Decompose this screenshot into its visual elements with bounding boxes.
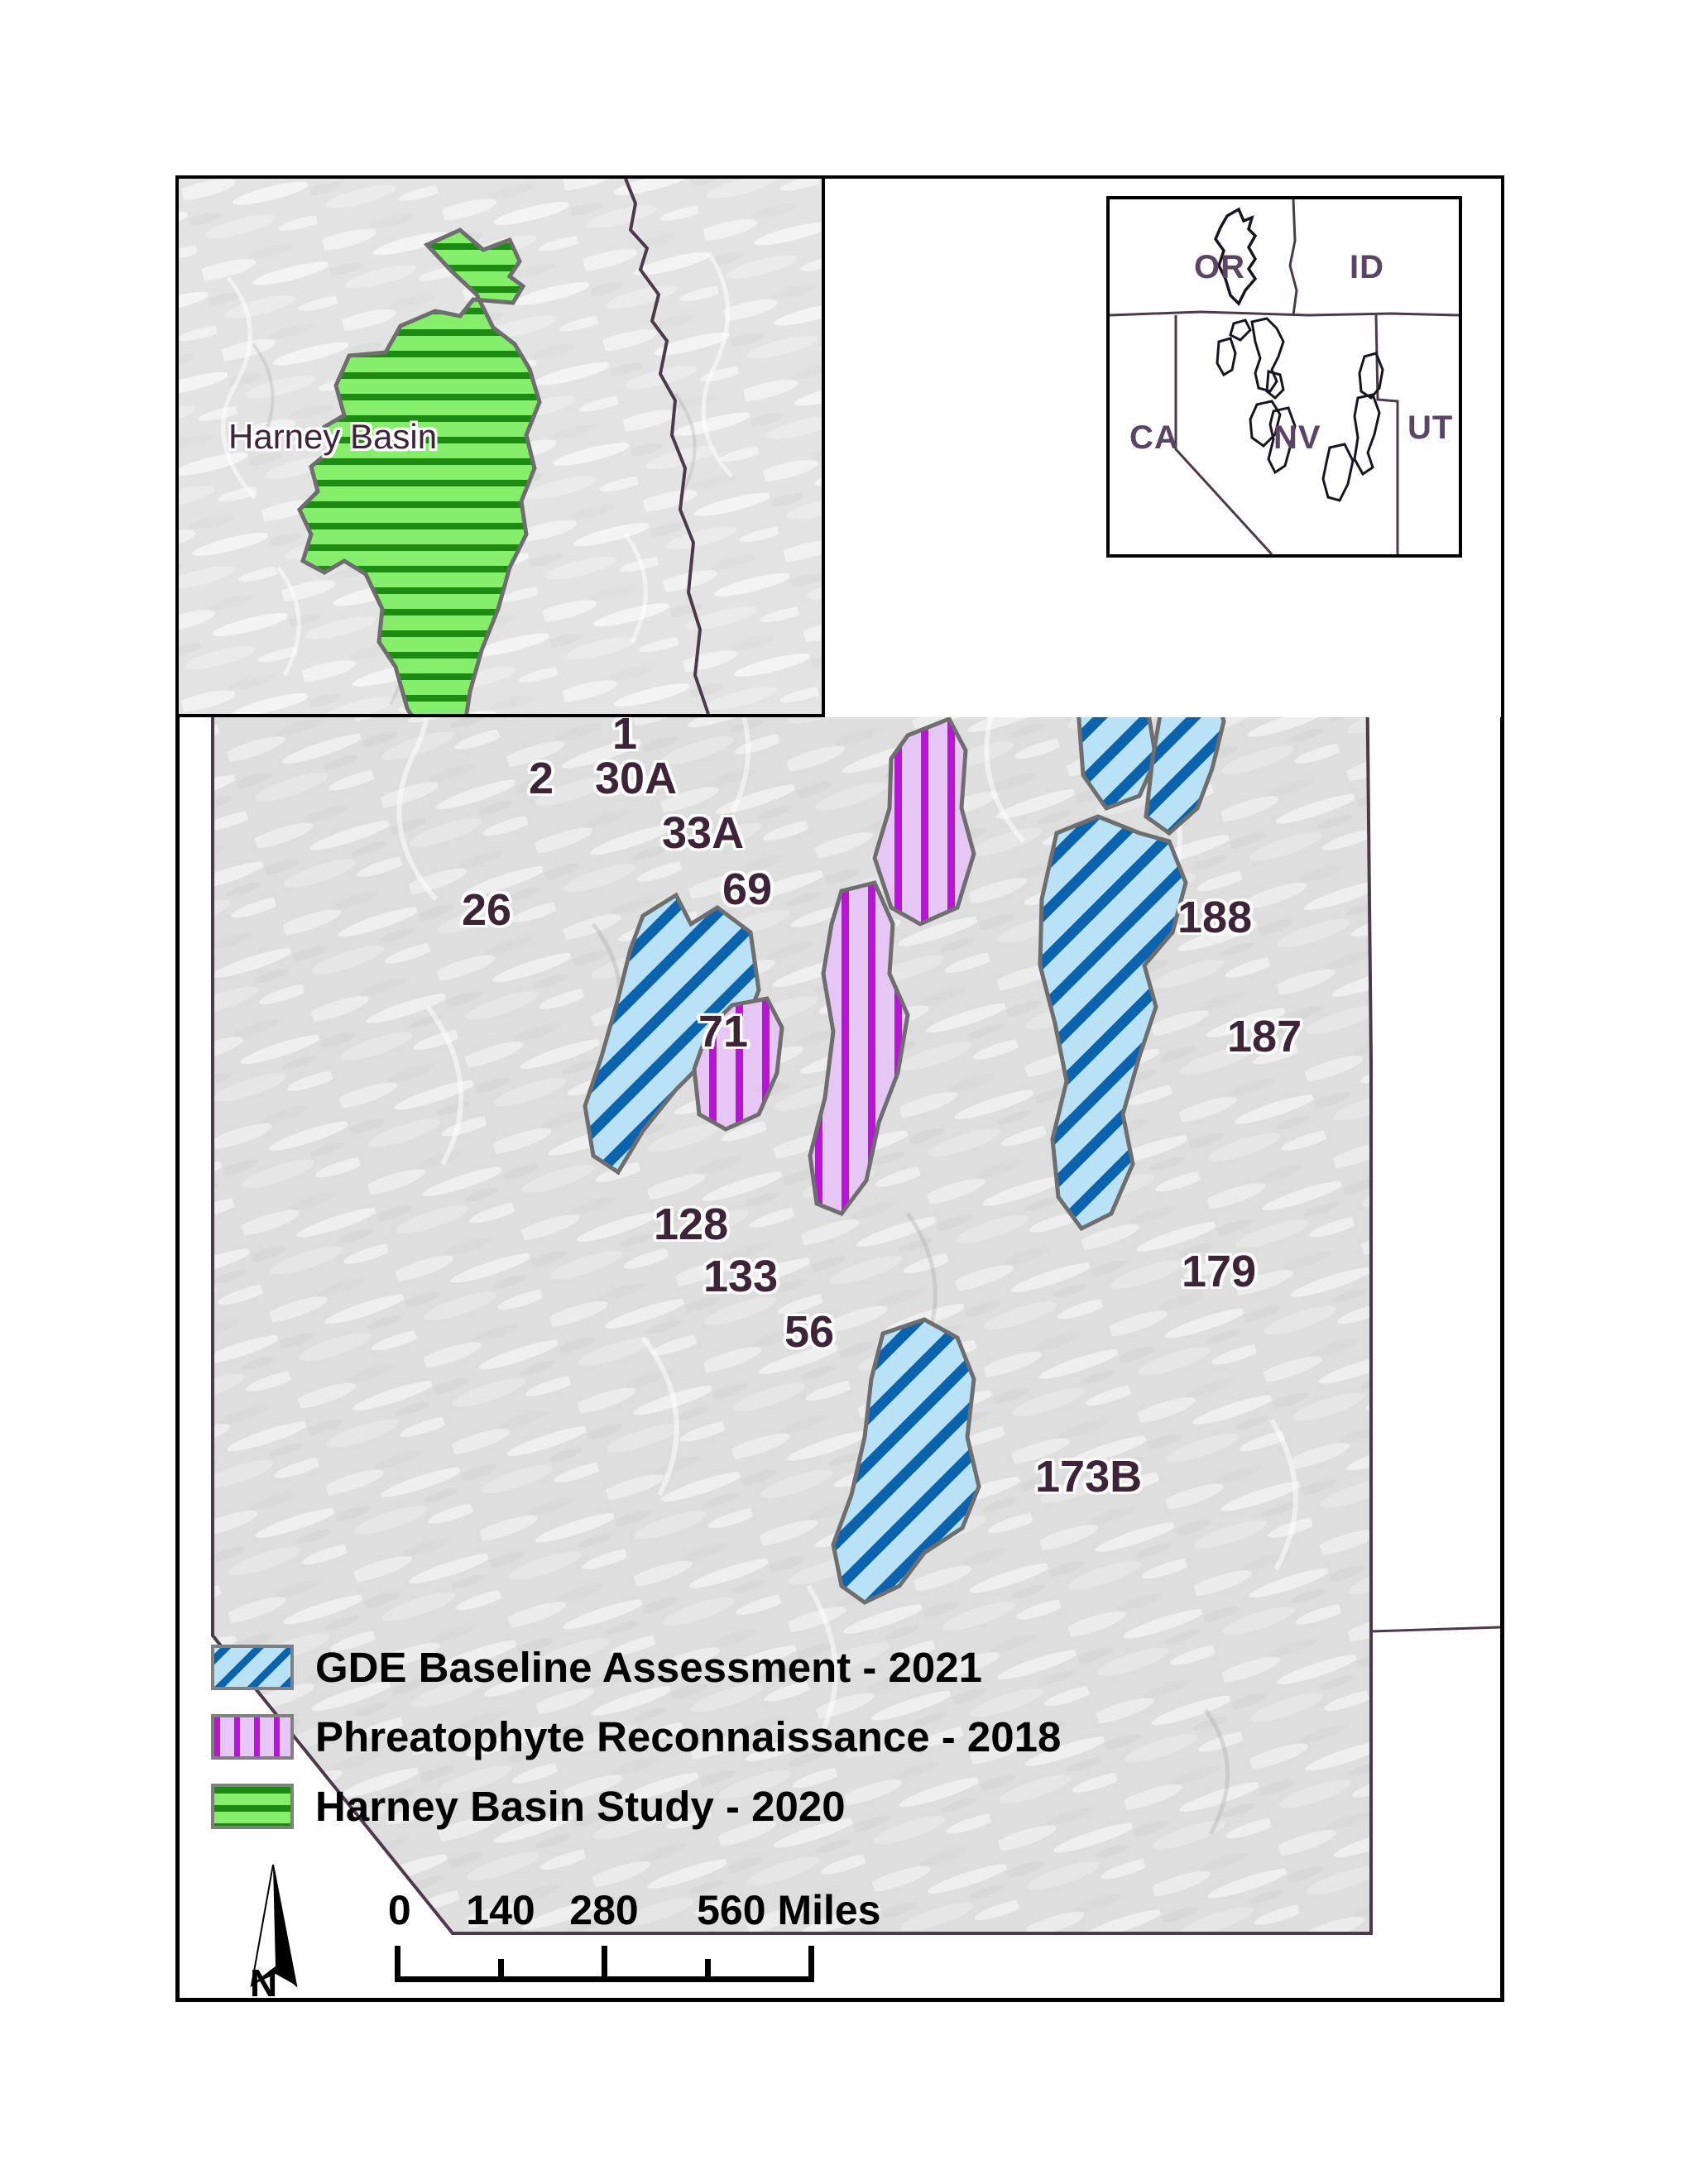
legend-swatch-phreatophyte — [211, 1714, 294, 1760]
state-label-or: OR — [1194, 251, 1245, 284]
basin-label-69: 69 — [722, 867, 772, 912]
harney-basin-label: Harney Basin — [228, 417, 437, 457]
map-canvas: 1230A33A69267118818712813356179173B — [0, 0, 1688, 2184]
basin-label-188: 188 — [1177, 895, 1252, 940]
scale-tick-2 — [602, 1946, 607, 1982]
basin-label-128: 128 — [654, 1202, 728, 1247]
legend-swatch-harney — [211, 1784, 294, 1829]
scale-tick-label-2: 280 — [569, 1886, 638, 1934]
scale-tick-3 — [705, 1959, 711, 1982]
state-locator-svg — [1110, 199, 1459, 554]
scale-tick-0 — [395, 1946, 400, 1982]
state-label-ca: CA — [1129, 421, 1179, 454]
basin-label-187: 187 — [1227, 1014, 1302, 1059]
harney-basin-inset-panel[interactable]: Harney Basin — [175, 175, 825, 717]
state-locator-inset[interactable]: ORIDCANVUT — [1106, 196, 1462, 558]
basin-label-71: 71 — [698, 1009, 748, 1054]
legend-label-phreatophyte: Phreatophyte Reconnaissance - 2018 — [315, 1712, 1061, 1761]
basin-label-179: 179 — [1182, 1249, 1256, 1294]
legend-row-harney[interactable]: Harney Basin Study - 2020 — [211, 1781, 1088, 1831]
scale-tick-4 — [808, 1946, 814, 1982]
basin-label-26: 26 — [462, 888, 511, 932]
basin-label-173B: 173B — [1035, 1454, 1142, 1499]
scale-bar-graphic — [397, 1934, 811, 1982]
state-label-nv: NV — [1273, 421, 1321, 454]
legend-label-gde: GDE Baseline Assessment - 2021 — [315, 1643, 982, 1692]
state-label-id: ID — [1350, 251, 1384, 284]
legend-swatch-gde — [211, 1645, 294, 1690]
basin-label-33A: 33A — [662, 811, 744, 855]
state-label-ut: UT — [1407, 411, 1453, 444]
legend-row-gde[interactable]: GDE Baseline Assessment - 2021 — [211, 1642, 1088, 1692]
legend-label-harney: Harney Basin Study - 2020 — [315, 1782, 846, 1831]
scale-bar-labels: 0140280560 Miles — [397, 1886, 811, 1934]
basin-label-133: 133 — [703, 1254, 778, 1299]
scale-tick-label-1: 140 — [466, 1886, 535, 1934]
basin-label-2: 2 — [529, 756, 554, 801]
legend-row-phreatophyte[interactable]: Phreatophyte Reconnaissance - 2018 — [211, 1712, 1088, 1761]
north-arrow-letter: N — [250, 1961, 277, 2005]
legend: GDE Baseline Assessment - 2021 Phreatoph… — [211, 1642, 1088, 1851]
scale-bar: 0140280560 Miles — [397, 1886, 811, 1982]
scale-tick-1 — [498, 1959, 504, 1982]
scale-tick-label-4: 560 Miles — [697, 1886, 880, 1934]
basin-label-1: 1 — [612, 711, 637, 756]
basin-label-30A: 30A — [595, 756, 677, 801]
basin-label-56: 56 — [784, 1310, 834, 1354]
scale-tick-label-0: 0 — [388, 1886, 411, 1934]
